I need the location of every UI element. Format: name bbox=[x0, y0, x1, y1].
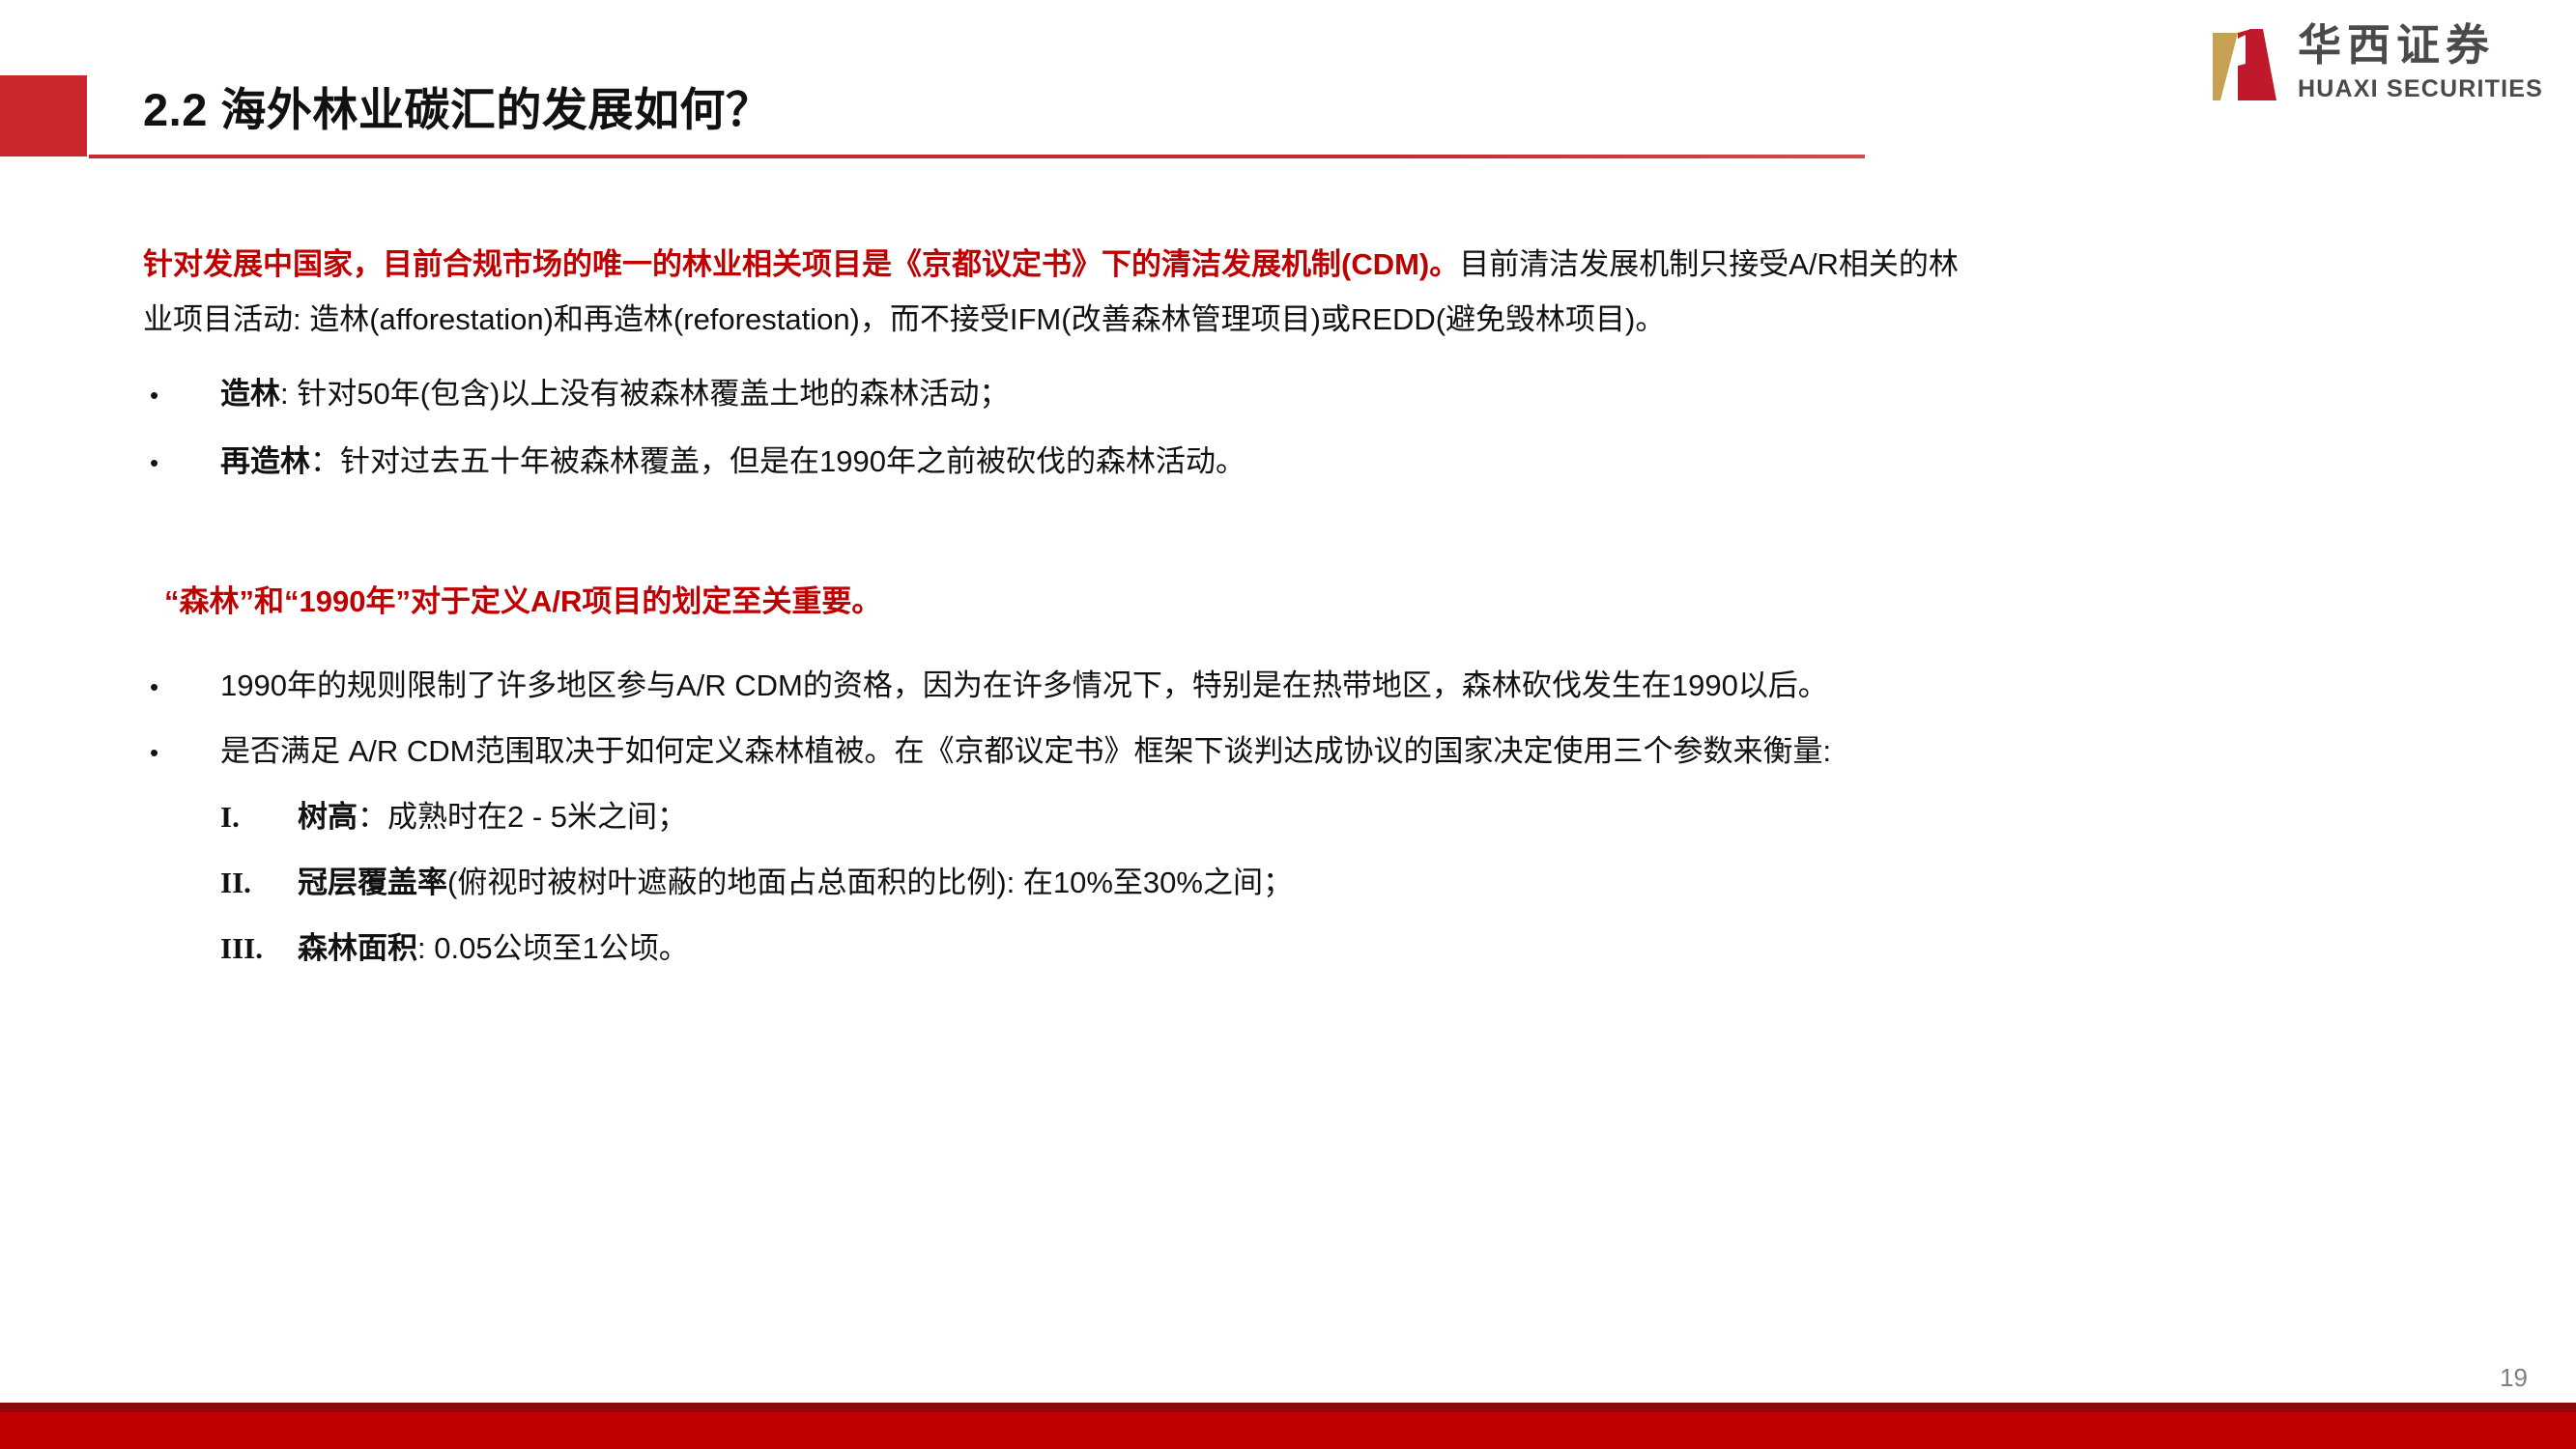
list-item-text: 是否满足 A/R CDM范围取决于如何定义森林植被。在《京都议定书》框架下谈判达… bbox=[220, 726, 1831, 770]
sub-list-item-term: 树高 bbox=[298, 800, 358, 834]
company-logo: 华西证券 HUAXI SECURITIES bbox=[2209, 21, 2543, 104]
list-item-text: 再造林：针对过去五十年被森林覆盖，但是在1990年之前被砍伐的森林活动。 bbox=[220, 437, 1245, 480]
sub-list-item-text: 树高：成熟时在2 - 5米之间； bbox=[298, 792, 687, 836]
sub-list-item-text: 森林面积: 0.05公顷至1公顷。 bbox=[298, 923, 689, 967]
roman-marker: III. bbox=[220, 931, 298, 966]
intro-paragraph-line2: 业项目活动: 造林(afforestation)和再造林(reforestati… bbox=[143, 304, 1665, 334]
sub-list-item-term: 冠层覆盖率 bbox=[298, 866, 447, 899]
footer-bar bbox=[0, 1412, 2576, 1449]
list-item: • 1990年的规则限制了许多地区参与A/R CDM的资格，因为在许多情况下，特… bbox=[150, 661, 1828, 704]
bullet-marker: • bbox=[150, 738, 220, 768]
bullet-marker: • bbox=[150, 672, 220, 702]
list-item: • 是否满足 A/R CDM范围取决于如何定义森林植被。在《京都议定书》框架下谈… bbox=[150, 726, 1831, 770]
logo-name-cn: 华西证券 bbox=[2298, 24, 2495, 68]
header-accent-block bbox=[0, 75, 87, 156]
intro-paragraph-line1-black: 目前清洁发展机制只接受A/R相关的林 bbox=[1459, 247, 1959, 281]
roman-marker: I. bbox=[220, 800, 298, 835]
sub-list-item: III. 森林面积: 0.05公顷至1公顷。 bbox=[220, 923, 689, 967]
page-number: 19 bbox=[2500, 1363, 2528, 1393]
roman-marker: II. bbox=[220, 866, 298, 900]
sub-list-item-text: 冠层覆盖率(俯视时被树叶遮蔽的地面占总面积的比例): 在10%至30%之间； bbox=[298, 858, 1293, 901]
list-item-term: 再造林 bbox=[220, 444, 310, 478]
list-item: • 再造林：针对过去五十年被森林覆盖，但是在1990年之前被砍伐的森林活动。 bbox=[150, 437, 1245, 480]
sub-list-item-term: 森林面积 bbox=[298, 931, 417, 965]
sub-list-item-desc: (俯视时被树叶遮蔽的地面占总面积的比例): 在10%至30%之间； bbox=[447, 866, 1293, 899]
list-item: • 造林: 针对50年(包含)以上没有被森林覆盖土地的森林活动； bbox=[150, 369, 1009, 412]
intro-paragraph-line1: 针对发展中国家，目前合规市场的唯一的林业相关项目是《京都议定书》下的清洁发展机制… bbox=[143, 249, 1959, 279]
list-item-text: 造林: 针对50年(包含)以上没有被森林覆盖土地的森林活动； bbox=[220, 369, 1009, 412]
huaxi-h-mark-icon bbox=[2209, 21, 2280, 104]
sub-list-item: I. 树高：成熟时在2 - 5米之间； bbox=[220, 792, 687, 836]
list-item-desc: : 针对50年(包含)以上没有被森林覆盖土地的森林活动； bbox=[280, 377, 1009, 411]
sub-list-item-desc: ：成熟时在2 - 5米之间； bbox=[358, 800, 687, 834]
logo-name-en: HUAXI SECURITIES bbox=[2298, 77, 2543, 101]
page-title: 2.2 海外林业碳汇的发展如何？ bbox=[143, 72, 771, 139]
list-item-desc: ：针对过去五十年被森林覆盖，但是在1990年之前被砍伐的森林活动。 bbox=[310, 444, 1245, 478]
logo-text-block: 华西证券 HUAXI SECURITIES bbox=[2298, 24, 2543, 101]
sub-list-item-desc: : 0.05公顷至1公顷。 bbox=[417, 931, 689, 965]
list-item-text: 1990年的规则限制了许多地区参与A/R CDM的资格，因为在许多情况下，特别是… bbox=[220, 661, 1828, 704]
intro-paragraph-line1-red: 针对发展中国家，目前合规市场的唯一的林业相关项目是《京都议定书》下的清洁发展机制… bbox=[143, 247, 1459, 281]
list-item-term: 造林 bbox=[220, 377, 280, 411]
slide-root: 2.2 海外林业碳汇的发展如何？ 华西证券 HUAXI SECURITIES 针… bbox=[0, 0, 2576, 1449]
sub-list-item: II. 冠层覆盖率(俯视时被树叶遮蔽的地面占总面积的比例): 在10%至30%之… bbox=[220, 858, 1293, 901]
bullet-marker: • bbox=[150, 448, 220, 478]
bullet-marker: • bbox=[150, 381, 220, 411]
footer-bar-shadow bbox=[0, 1403, 2576, 1412]
header-divider bbox=[89, 155, 1865, 158]
section-heading-red: “森林”和“1990年”对于定义A/R项目的划定至关重要。 bbox=[164, 586, 881, 616]
